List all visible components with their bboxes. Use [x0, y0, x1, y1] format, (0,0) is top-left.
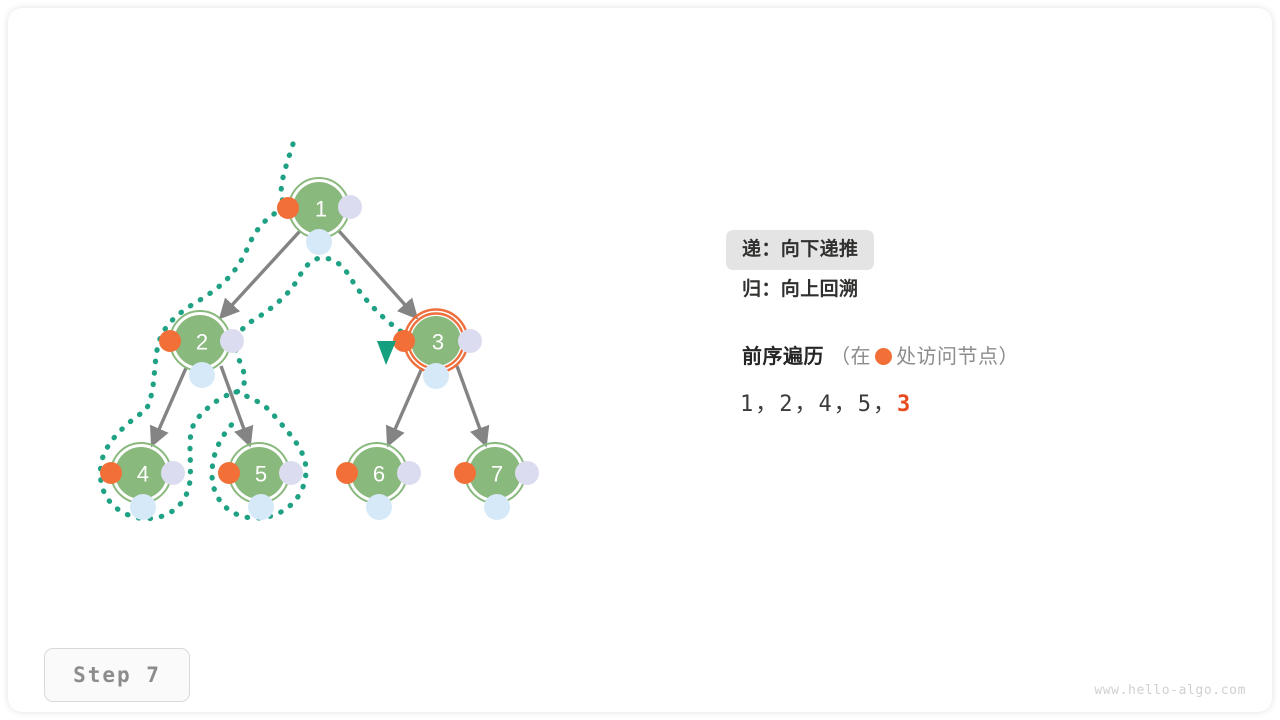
edge-3-7	[457, 366, 485, 443]
tree-node-6[interactable]: 6	[336, 443, 421, 520]
tree-node-7[interactable]: 7	[454, 443, 539, 520]
traversal-title: 前序遍历	[742, 346, 824, 368]
node-6-right-dot	[397, 461, 421, 485]
node-7-bottom-dot	[484, 494, 510, 520]
legend-backtrack-label: 归：向上回溯	[726, 270, 874, 310]
node-2-visit-dot	[159, 330, 181, 352]
current-node-pointer-icon	[377, 341, 396, 365]
step-badge: Step 7	[44, 648, 190, 702]
node-4-right-dot	[161, 461, 185, 485]
site-watermark: www.hello-algo.com	[1094, 683, 1246, 698]
traversal-note-open: （在	[830, 346, 871, 368]
node-2-bottom-dot	[189, 362, 215, 388]
tree-node-5[interactable]: 5	[218, 443, 303, 520]
edge-1-2	[222, 231, 300, 316]
node-1-bottom-dot	[306, 229, 332, 255]
edge-1-3	[339, 231, 415, 316]
traversal-sequence-visited: 1，2，4，5，	[740, 392, 897, 417]
tree-node-4[interactable]: 4	[100, 443, 185, 520]
node-5-visit-dot	[218, 462, 240, 484]
node-2-label: 2	[196, 330, 208, 355]
node-1-visit-dot	[277, 197, 299, 219]
node-7-label: 7	[491, 462, 503, 487]
node-6-label: 6	[373, 462, 385, 487]
legend-recurse-label: 递：向下递推	[726, 230, 874, 270]
node-5-label: 5	[255, 462, 267, 487]
node-3-label: 3	[432, 330, 444, 355]
traversal-title-row: 前序遍历 （在处访问节点）	[726, 340, 1246, 369]
legend-panel: 递：向下递推 归：向上回溯 前序遍历 （在处访问节点） 1，2，4，5，3	[726, 230, 1246, 418]
edge-2-4	[153, 368, 186, 443]
node-4-bottom-dot	[130, 494, 156, 520]
node-7-right-dot	[515, 461, 539, 485]
node-1-label: 1	[315, 197, 327, 222]
node-5-bottom-dot	[248, 494, 274, 520]
node-4-visit-dot	[100, 462, 122, 484]
traversal-sequence: 1，2，4，5，3	[726, 386, 1246, 418]
node-1-right-dot	[338, 195, 362, 219]
traversal-note-close: 处访问节点）	[896, 346, 1019, 368]
figure-stage: 1 2 3	[8, 8, 1272, 712]
legend-row-backtrack: 归：向上回溯	[726, 270, 1246, 310]
tree-node-3[interactable]: 3	[377, 310, 482, 390]
node-6-visit-dot	[336, 462, 358, 484]
node-7-visit-dot	[454, 462, 476, 484]
legend-row-recurse: 递：向下递推	[726, 230, 1246, 270]
figure-card: 1 2 3	[8, 8, 1272, 712]
node-6-bottom-dot	[366, 494, 392, 520]
node-3-bottom-dot	[423, 363, 449, 389]
node-5-right-dot	[279, 461, 303, 485]
orange-dot-icon	[875, 348, 892, 365]
node-3-visit-dot	[393, 330, 415, 352]
node-3-right-dot	[458, 329, 482, 353]
traversal-sequence-current: 3	[897, 392, 912, 417]
edge-3-6	[389, 368, 422, 443]
node-4-label: 4	[137, 462, 149, 487]
node-2-right-dot	[220, 329, 244, 353]
